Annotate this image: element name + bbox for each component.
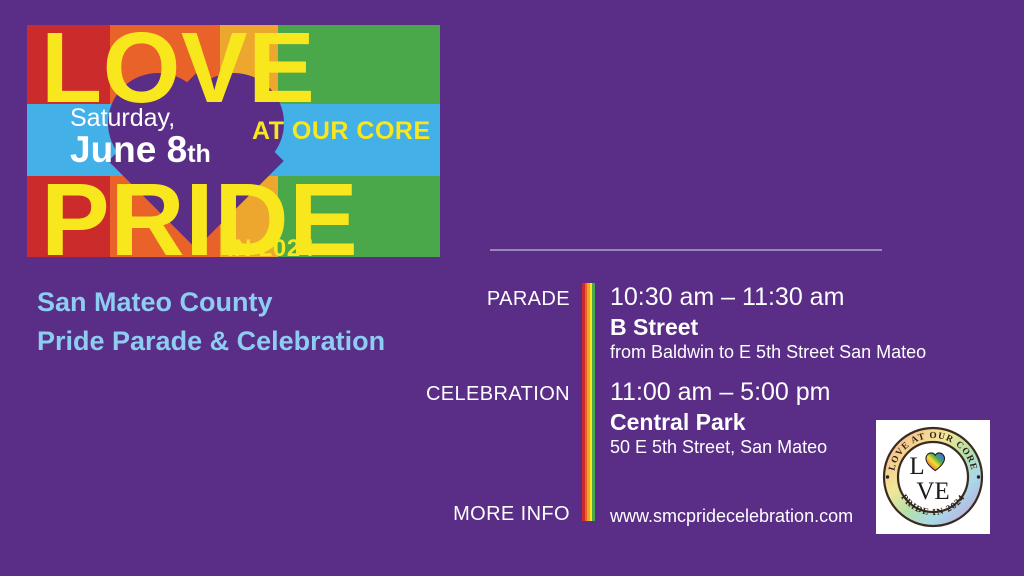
info-body-parade: 10:30 am – 11:30 am B Street from Baldwi… xyxy=(610,283,926,365)
horizontal-divider xyxy=(490,249,882,251)
parade-address: from Baldwin to E 5th Street San Mateo xyxy=(610,341,926,364)
event-date-weekday: Saturday, xyxy=(70,105,211,131)
event-date: Saturday, June 8th xyxy=(70,105,211,170)
info-label-celebration: CELEBRATION xyxy=(400,383,570,406)
event-date-day: June 8th xyxy=(70,131,211,170)
parade-time: 10:30 am – 11:30 am xyxy=(610,283,926,313)
rainbow-stripe xyxy=(592,283,595,521)
info-label-more-info: MORE INFO xyxy=(430,503,570,526)
badge-letter-l: L xyxy=(909,453,924,480)
celebration-place: Central Park xyxy=(610,408,831,437)
info-label-parade: PARADE xyxy=(430,288,570,311)
logo-tagline-in-2024: IN 2024 xyxy=(227,235,314,263)
love-at-our-core-badge: LOVE AT OUR CORE PRIDE IN 2024 L VE xyxy=(876,420,990,534)
celebration-address: 50 E 5th Street, San Mateo xyxy=(610,436,831,459)
pride-event-poster: LOVE AT OUR CORE Saturday, June 8th PRID… xyxy=(0,0,1024,576)
logo-tagline-at-our-core: AT OUR CORE xyxy=(252,119,431,144)
badge-dot-right xyxy=(977,475,980,478)
event-subtitle-line2: Pride Parade & Celebration xyxy=(37,322,385,361)
info-body-celebration: 11:00 am – 5:00 pm Central Park 50 E 5th… xyxy=(610,378,831,460)
badge-letters-ve: VE xyxy=(916,478,949,505)
event-subtitle: San Mateo County Pride Parade & Celebrat… xyxy=(37,283,385,361)
rainbow-separator-bar xyxy=(582,283,595,521)
celebration-time: 11:00 am – 5:00 pm xyxy=(610,378,831,408)
event-date-month-day: June 8 xyxy=(70,129,187,170)
badge-graphic: LOVE AT OUR CORE PRIDE IN 2024 L VE xyxy=(876,420,990,534)
event-subtitle-line1: San Mateo County xyxy=(37,283,385,322)
badge-dot-left xyxy=(886,475,889,478)
event-website-link[interactable]: www.smcpridecelebration.com xyxy=(610,506,853,527)
parade-place: B Street xyxy=(610,313,926,342)
logo-word-love: LOVE xyxy=(41,18,315,118)
event-date-ordinal: th xyxy=(187,140,211,168)
pride-logo-block: LOVE AT OUR CORE Saturday, June 8th PRID… xyxy=(27,25,440,257)
